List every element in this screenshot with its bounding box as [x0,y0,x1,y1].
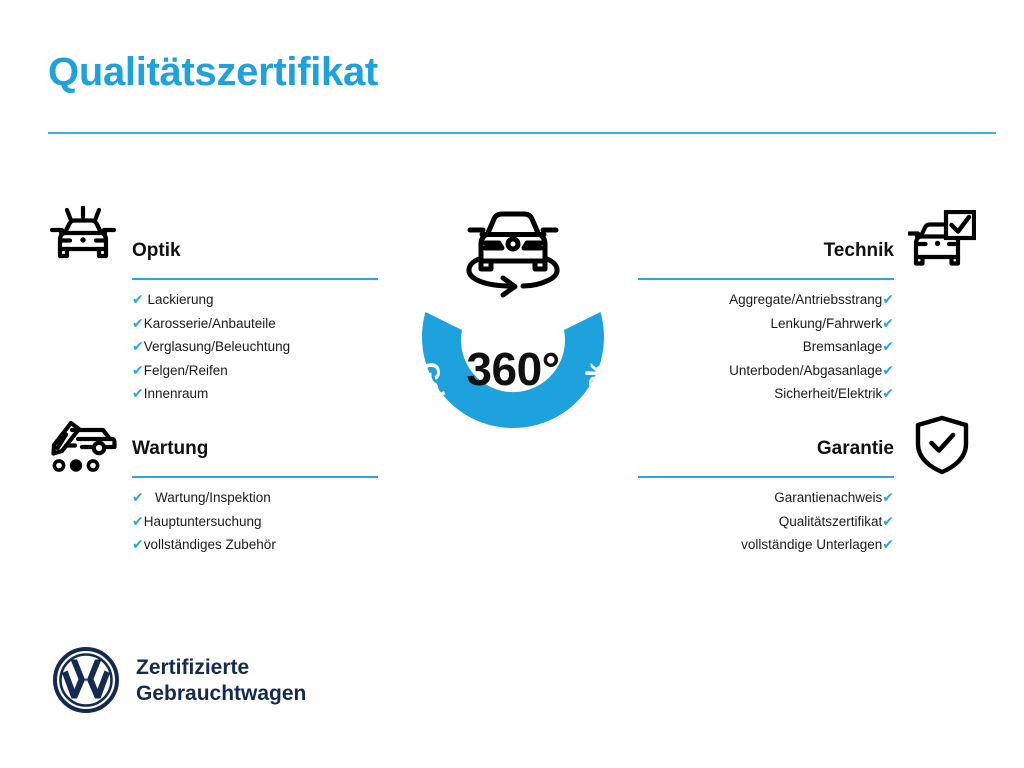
section-wartung-header: Wartung [132,436,378,478]
footer-logo-block: Zertifizierte Gebrauchtwagen [52,646,372,726]
check-icon: ✔ [882,513,894,529]
list-item: ✔Karosserie/Anbauteile [132,312,378,336]
section-optik-underline [132,278,378,280]
list-item-label: vollständiges Zubehör [144,537,276,552]
footer-logo-text: Zertifizierte Gebrauchtwagen [136,655,306,707]
list-item: ✔vollständiges Zubehör [132,533,378,557]
badge-center-text: 360° [378,342,648,396]
list-item: ✔Felgen/Reifen [132,359,378,383]
list-item: ✔ Wartung/Inspektion [132,486,378,510]
list-item-label: Verglasung/Beleuchtung [144,339,290,354]
check-icon: ✔ [132,385,144,401]
list-item-label: Lenkung/Fahrwerk [770,316,882,331]
list-item-label: Garantienachweis [774,490,882,505]
section-technik-header: Technik [638,238,894,280]
list-item: Bremsanlage✔ [638,335,894,359]
list-item: Sicherheit/Elektrik✔ [638,382,894,406]
list-item: Garantienachweis✔ [638,486,894,510]
car-checkbox-icon [908,210,976,277]
list-item-label: vollständige Unterlagen [741,537,882,552]
check-icon: ✔ [882,489,894,505]
list-item-label: Wartung/Inspektion [155,490,271,505]
check-icon: ✔ [882,291,894,307]
list-item-label: Felgen/Reifen [144,363,228,378]
list-item: Unterboden/Abgasanlage✔ [638,359,894,383]
footer-logo-line2: Gebrauchtwagen [136,681,306,707]
section-wartung: Wartung ✔ Wartung/Inspektion ✔Hauptunter… [132,436,378,557]
section-technik-underline [638,278,894,280]
section-optik-list: ✔ Lackierung ✔Karosserie/Anbauteile ✔Ver… [132,288,378,406]
check-icon: ✔ [132,338,144,354]
section-technik-title: Technik [638,238,894,264]
list-item: ✔Innenraum [132,382,378,406]
footer-logo-line1: Zertifizierte [136,655,306,681]
check-icon: ✔ [132,362,144,378]
section-garantie: Garantie Garantienachweis✔ Qualitätszert… [638,436,894,557]
check-icon: ✔ [882,536,894,552]
section-garantie-list: Garantienachweis✔ Qualitätszertifikat✔ v… [638,486,894,557]
section-garantie-underline [638,476,894,478]
check-icon: ✔ [132,489,144,505]
car-shine-icon [48,206,118,281]
check-icon: ✔ [882,338,894,354]
section-technik-list: Aggregate/Antriebsstrang✔ Lenkung/Fahrwe… [638,288,894,406]
check-icon: ✔ [132,315,144,331]
list-item-label: Qualitätszertifikat [779,514,883,529]
header-divider [48,132,996,134]
list-item: ✔Hauptuntersuchung [132,510,378,534]
section-wartung-title: Wartung [132,436,378,462]
section-wartung-underline [132,476,378,478]
list-item: vollständige Unterlagen✔ [638,533,894,557]
section-optik-title: Optik [132,238,378,264]
list-item-label: Innenraum [144,386,209,401]
check-icon: ✔ [132,291,144,307]
list-item-label: Karosserie/Anbauteile [144,316,276,331]
list-item-label: Unterboden/Abgasanlage [729,363,882,378]
list-item: Qualitätszertifikat✔ [638,510,894,534]
list-item: Lenkung/Fahrwerk✔ [638,312,894,336]
section-technik: Technik Aggregate/Antriebsstrang✔ Lenkun… [638,238,894,406]
section-wartung-list: ✔ Wartung/Inspektion ✔Hauptuntersuchung … [132,486,378,557]
section-optik: Optik ✔ Lackierung ✔Karosserie/Anbauteil… [132,238,378,406]
list-item-label: Aggregate/Antriebsstrang [729,292,882,307]
section-garantie-header: Garantie [638,436,894,478]
badge-360-gebrauchtwagen-check: Gebrauchtwagen-Check [378,190,648,490]
list-item-label: Bremsanlage [803,339,883,354]
list-item: ✔ Lackierung [132,288,378,312]
car-rotation-360-icon [455,198,571,311]
check-icon: ✔ [882,315,894,331]
list-item-label: Sicherheit/Elektrik [774,386,882,401]
shield-check-icon [912,414,972,481]
check-icon: ✔ [132,513,144,529]
list-item-label: Hauptuntersuchung [144,514,262,529]
section-garantie-title: Garantie [638,436,894,462]
list-item: ✔Verglasung/Beleuchtung [132,335,378,359]
volkswagen-logo [52,646,120,714]
certificate-page: Qualitätszertifikat Optik [0,0,1024,768]
list-item: Aggregate/Antriebsstrang✔ [638,288,894,312]
check-icon: ✔ [132,536,144,552]
check-icon: ✔ [882,385,894,401]
section-optik-header: Optik [132,238,378,280]
list-item-label: Lackierung [148,292,214,307]
page-title: Qualitätszertifikat [48,50,378,94]
check-icon: ✔ [882,362,894,378]
pencil-car-service-icon [48,414,118,481]
